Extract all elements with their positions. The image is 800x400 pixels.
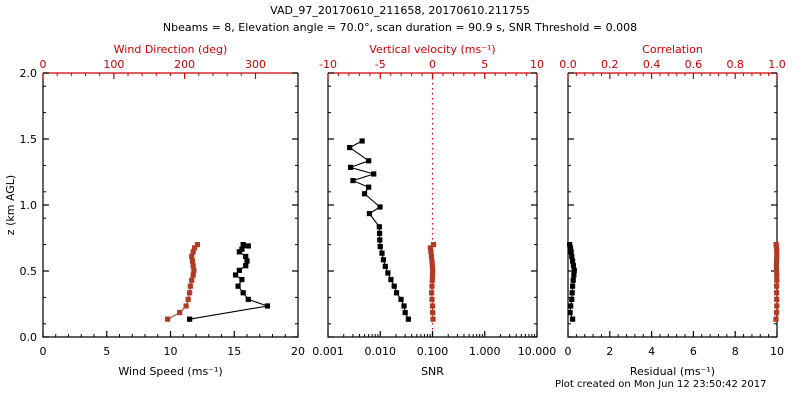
data-point-vertical-velocity (430, 259, 435, 264)
xtick-label: 10 (770, 345, 784, 358)
data-point-vertical-velocity (430, 268, 435, 273)
panel-1-x-axis-title: Wind Speed (ms⁻¹) (118, 365, 222, 378)
data-point-correlation (774, 273, 779, 278)
data-point-snr (378, 244, 383, 249)
data-point-snr (347, 145, 352, 150)
data-point-correlation (774, 290, 779, 295)
data-point-wind-direction (186, 297, 191, 302)
ytick-label: 1.0 (20, 199, 38, 212)
panel-2-top-axis-title: Vertical velocity (ms⁻¹) (369, 43, 495, 56)
plot-canvas: 0510152001002003000.00.51.01.52.0Wind Di… (0, 0, 800, 400)
data-point-wind-speed (243, 254, 248, 259)
data-point-snr (377, 224, 382, 229)
xtick-label: 0.001 (312, 345, 344, 358)
series-line-wind-speed (190, 245, 268, 320)
xtick-label: 8 (732, 345, 739, 358)
data-point-residual (569, 254, 574, 259)
data-point-wind-direction (189, 254, 194, 259)
data-point-correlation (774, 263, 779, 268)
data-point-snr (399, 297, 404, 302)
data-point-wind-direction (191, 263, 196, 268)
xtick-label: 6 (690, 345, 697, 358)
data-point-wind-direction (177, 310, 182, 315)
data-point-residual (569, 297, 574, 302)
data-point-vertical-velocity (431, 317, 436, 322)
data-point-vertical-velocity (430, 284, 435, 289)
xtick-label: 2 (606, 345, 613, 358)
data-point-wind-speed (241, 290, 246, 295)
data-point-vertical-velocity (430, 263, 435, 268)
data-point-snr (377, 238, 382, 243)
top-xtick-label: 0 (40, 58, 47, 71)
data-point-snr (389, 277, 394, 282)
data-point-snr (348, 165, 353, 170)
data-point-wind-speed (246, 297, 251, 302)
ytick-label: 0.0 (20, 331, 38, 344)
top-xtick-label: 0.4 (643, 58, 661, 71)
panel-3-top-axis-title: Correlation (642, 43, 703, 56)
data-point-correlation (774, 259, 779, 264)
data-point-snr (377, 231, 382, 236)
data-point-snr (394, 290, 399, 295)
data-point-wind-direction (191, 273, 196, 278)
data-point-wind-direction (187, 290, 192, 295)
data-point-snr (381, 257, 386, 262)
top-xtick-label: 10 (530, 58, 544, 71)
data-point-wind-speed (265, 304, 270, 309)
top-xtick-label: 1.0 (768, 58, 786, 71)
data-point-residual (571, 263, 576, 268)
data-point-residual (570, 317, 575, 322)
panel-3-frame (568, 73, 777, 337)
data-point-vertical-velocity (430, 304, 435, 309)
data-point-wind-direction (192, 268, 197, 273)
data-point-residual (568, 310, 573, 315)
data-point-correlation (774, 284, 779, 289)
data-point-snr (351, 178, 356, 183)
data-point-snr (378, 205, 383, 210)
top-xtick-label: -5 (375, 58, 386, 71)
plot-root: VAD_97_20170610_211658, 20170610.211755 … (0, 0, 800, 400)
xtick-label: 5 (103, 345, 110, 358)
data-point-vertical-velocity (431, 242, 436, 247)
data-point-residual (572, 273, 577, 278)
data-point-correlation (774, 254, 779, 259)
xtick-label: 0 (40, 345, 47, 358)
data-point-correlation (774, 278, 779, 283)
data-point-correlation (774, 242, 779, 247)
data-point-wind-direction (184, 304, 189, 309)
data-point-residual (571, 278, 576, 283)
xtick-label: 1.000 (469, 345, 501, 358)
data-point-residual (572, 268, 577, 273)
xtick-label: 10.000 (518, 345, 557, 358)
top-xtick-label: 300 (245, 58, 266, 71)
data-point-wind-direction (188, 284, 193, 289)
panel-2-x-axis-title: SNR (421, 365, 444, 378)
data-point-snr (366, 185, 371, 190)
y-axis-title: z (km AGL) (4, 175, 17, 235)
data-point-residual (570, 284, 575, 289)
data-point-snr (367, 211, 372, 216)
data-point-wind-direction (165, 317, 170, 322)
ytick-label: 0.5 (20, 265, 38, 278)
panel-1-frame (43, 73, 298, 337)
top-xtick-label: 5 (481, 58, 488, 71)
data-point-vertical-velocity (430, 297, 435, 302)
xtick-label: 0 (565, 345, 572, 358)
data-point-vertical-velocity (429, 290, 434, 295)
top-xtick-label: -10 (319, 58, 337, 71)
data-point-snr (403, 310, 408, 315)
data-point-vertical-velocity (430, 310, 435, 315)
data-point-snr (402, 304, 407, 309)
xtick-label: 15 (227, 345, 241, 358)
data-point-wind-speed (233, 273, 238, 278)
data-point-wind-speed (236, 284, 241, 289)
data-point-vertical-velocity (430, 278, 435, 283)
xtick-label: 4 (648, 345, 655, 358)
data-point-residual (570, 290, 575, 295)
series-line-snr (350, 141, 409, 319)
data-point-correlation (774, 310, 779, 315)
data-point-wind-speed (240, 277, 245, 282)
data-point-wind-speed (246, 244, 251, 249)
top-xtick-label: 0 (429, 58, 436, 71)
data-point-residual (568, 304, 573, 309)
data-point-wind-speed (243, 263, 248, 268)
data-point-wind-direction (195, 242, 200, 247)
top-xtick-label: 0.2 (601, 58, 619, 71)
data-point-snr (386, 271, 391, 276)
data-point-vertical-velocity (430, 273, 435, 278)
data-point-snr (392, 284, 397, 289)
ytick-label: 2.0 (20, 67, 38, 80)
data-point-snr (406, 317, 411, 322)
data-point-correlation (774, 304, 779, 309)
top-xtick-label: 200 (174, 58, 195, 71)
panel-3-x-axis-title: Residual (ms⁻¹) (630, 365, 715, 378)
data-point-residual (570, 259, 575, 264)
data-point-snr (383, 264, 388, 269)
data-point-vertical-velocity (429, 254, 434, 259)
data-point-snr (371, 172, 376, 177)
data-point-correlation (774, 317, 779, 322)
panel-1-top-axis-title: Wind Direction (deg) (114, 43, 228, 56)
top-xtick-label: 0.0 (559, 58, 577, 71)
data-point-wind-speed (241, 242, 246, 247)
top-xtick-label: 100 (103, 58, 124, 71)
xtick-label: 20 (291, 345, 305, 358)
data-point-wind-direction (189, 278, 194, 283)
top-xtick-label: 0.8 (726, 58, 744, 71)
data-point-snr (380, 251, 385, 256)
ytick-label: 1.5 (20, 133, 38, 146)
data-point-snr (366, 158, 371, 163)
data-point-correlation (774, 297, 779, 302)
top-xtick-label: 0.6 (685, 58, 703, 71)
xtick-label: 10 (164, 345, 178, 358)
xtick-label: 0.010 (365, 345, 397, 358)
data-point-correlation (774, 268, 779, 273)
data-point-wind-speed (237, 268, 242, 273)
data-point-wind-speed (187, 317, 192, 322)
data-point-snr (362, 191, 367, 196)
xtick-label: 0.100 (417, 345, 449, 358)
data-point-wind-speed (240, 247, 245, 252)
data-point-snr (360, 139, 365, 144)
data-point-wind-speed (245, 259, 250, 264)
data-point-wind-direction (190, 259, 195, 264)
data-point-residual (567, 242, 572, 247)
